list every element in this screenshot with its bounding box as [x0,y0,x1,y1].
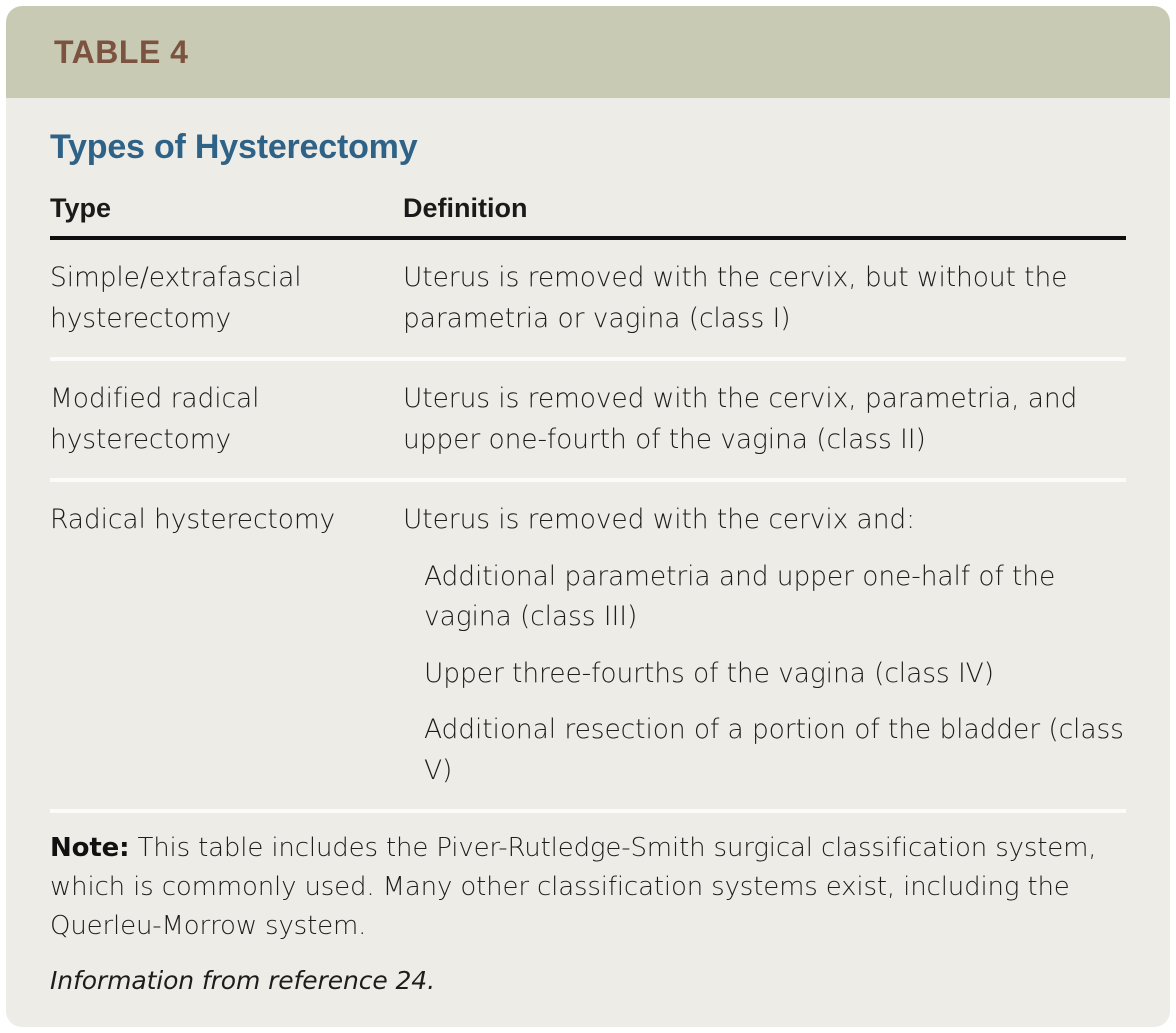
table-note: Note: This table includes the Piver-Rutl… [50,813,1126,946]
definition-sub-item: Additional resection of a portion of the… [424,710,1126,791]
column-header-definition: Definition [403,193,1126,224]
row-definition-lead: Uterus is removed with the cervix and: [403,500,1126,541]
table-header-band: TABLE 4 [6,6,1170,98]
definition-sub-item: Upper three-fourths of the vagina (class… [424,654,1126,695]
row-definition-cell: Uterus is removed with the cervix, but w… [403,258,1126,339]
source-reference: Information from reference 24. [50,966,1126,995]
table-row: Modified radical hysterectomy Uterus is … [50,361,1126,478]
row-type-cell: Radical hysterectomy [50,500,403,541]
table-card: TABLE 4 Types of Hysterectomy Type Defin… [6,6,1170,1027]
row-type-cell: Simple/extrafascial hysterectomy [50,258,403,339]
column-header-type: Type [50,193,403,224]
table-number-label: TABLE 4 [54,34,188,71]
row-definition-cell: Uterus is removed with the cervix, param… [403,379,1126,460]
definition-sub-list: Additional parametria and upper one-half… [403,557,1126,792]
table-header-row: Type Definition [50,193,1126,224]
note-label: Note: [50,833,129,863]
table-row: Simple/extrafascial hysterectomy Uterus … [50,240,1126,357]
table-body: Types of Hysterectomy Type Definition Si… [6,128,1170,995]
table-title: Types of Hysterectomy [50,128,1126,167]
definition-sub-item: Additional parametria and upper one-half… [424,557,1126,638]
note-text: This table includes the Piver-Rutledge-S… [50,833,1096,941]
row-type-cell: Modified radical hysterectomy [50,379,403,460]
row-definition-cell: Uterus is removed with the cervix and: A… [403,500,1126,791]
table-row: Radical hysterectomy Uterus is removed w… [50,482,1126,809]
